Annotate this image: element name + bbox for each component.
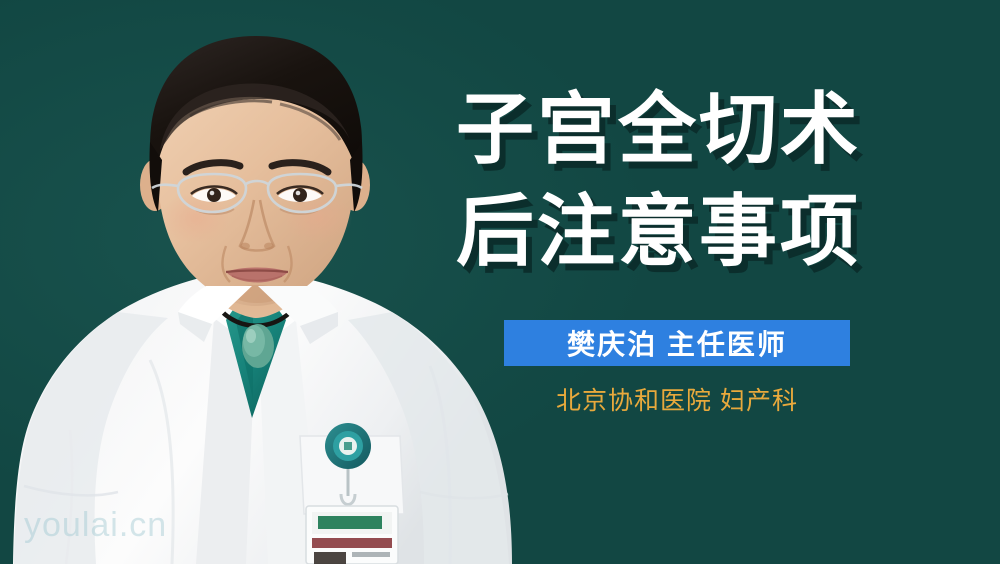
title-line-2: 后注意事项 [456, 180, 926, 282]
doctor-portrait [0, 0, 530, 564]
doctor-head [140, 36, 370, 306]
doctor-name-badge: 樊庆泊 主任医师 [504, 320, 850, 366]
video-thumbnail-canvas: 子宫全切术 后注意事项 樊庆泊 主任医师 北京协和医院 妇产科 youlai.c… [0, 0, 1000, 564]
doctor-name-label: 樊庆泊 主任医师 [567, 323, 787, 363]
id-card-icon [306, 506, 398, 564]
page-title: 子宫全切术 后注意事项 [456, 78, 926, 282]
doctor-affiliation: 北京协和医院 妇产科 [504, 381, 850, 417]
title-line-1: 子宫全切术 [456, 78, 926, 180]
